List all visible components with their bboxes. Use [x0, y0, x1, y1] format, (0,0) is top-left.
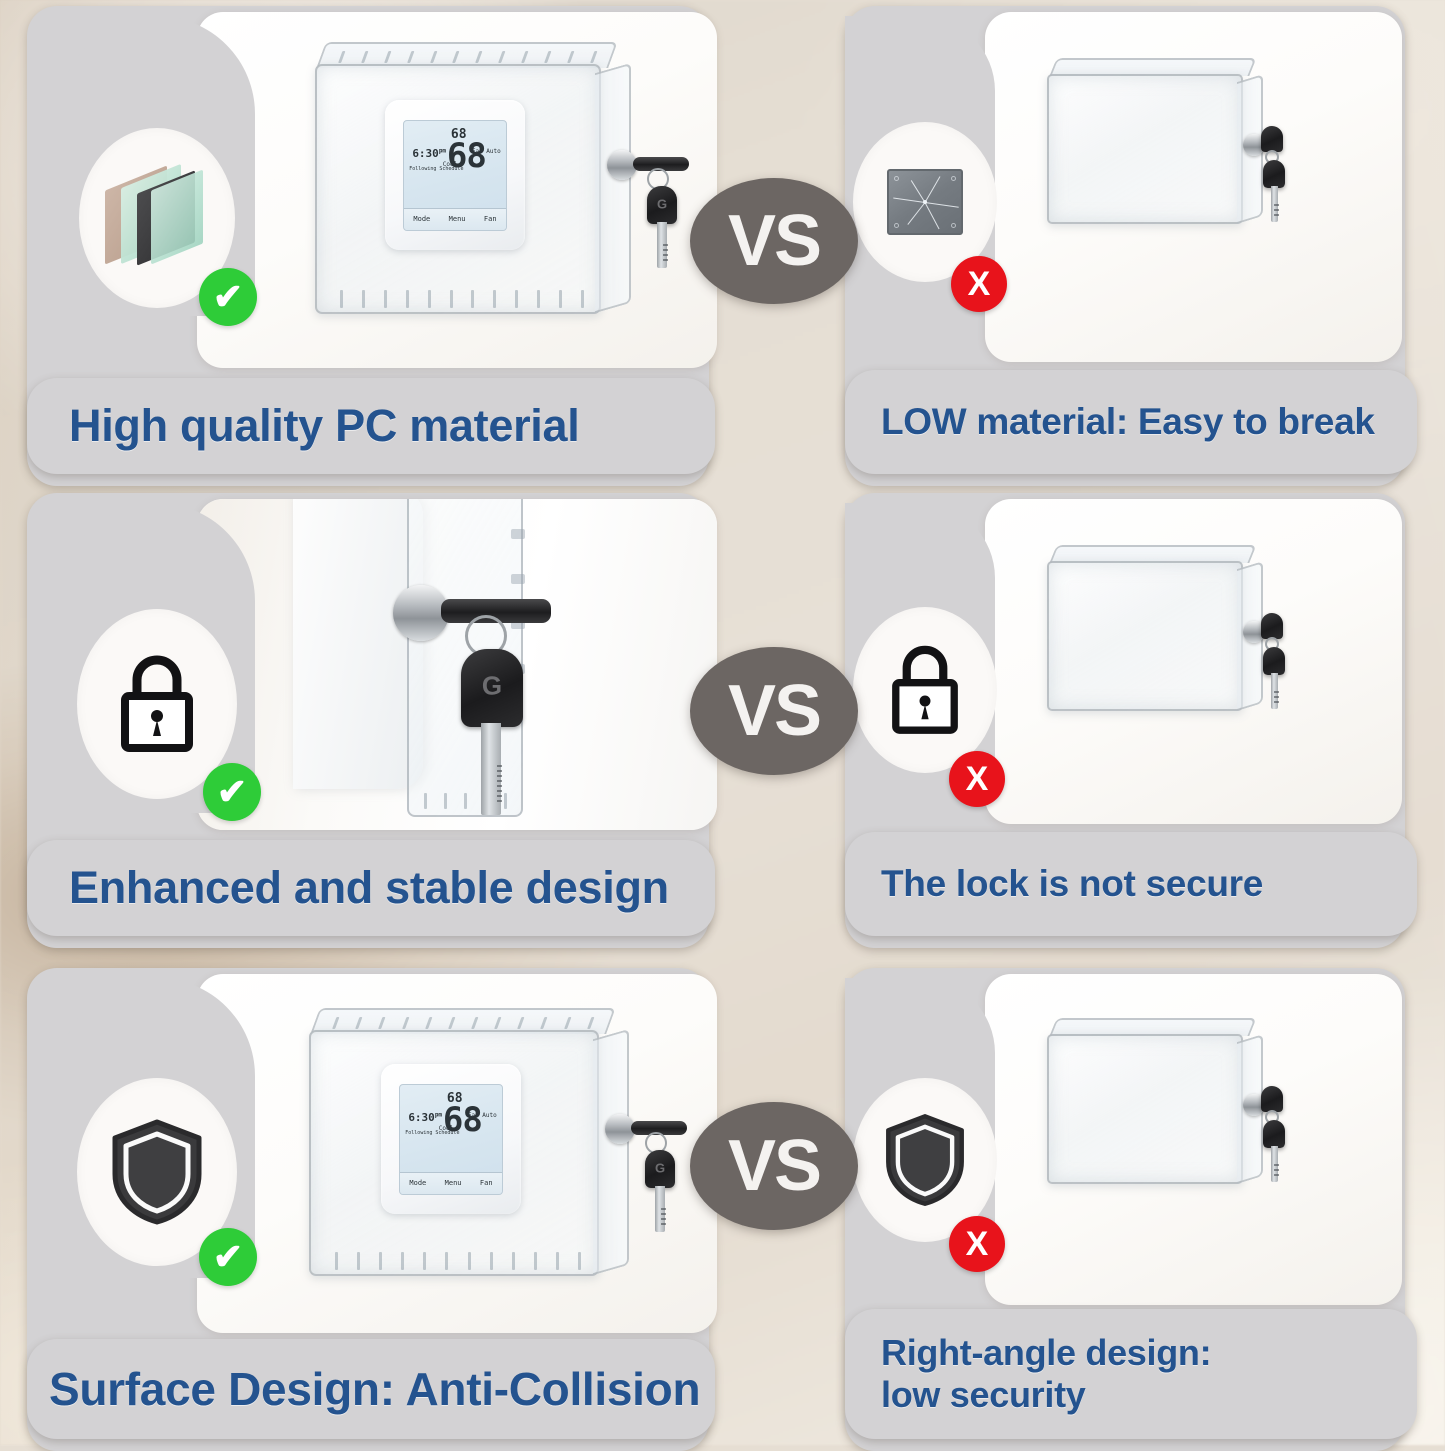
- thermostat-screen: 6:30pm Following Schedule Cool 68 68 Fan…: [399, 1084, 503, 1195]
- cover-front-face: [1047, 1034, 1243, 1184]
- key-brand-logo: G: [482, 671, 502, 702]
- comparison-row-lock: G ✔ Enhanced and stable: [0, 487, 1445, 942]
- key-blade: [657, 222, 667, 268]
- product-photo-stage-closeup: G: [197, 499, 717, 830]
- thermostat-body-closeup: [293, 499, 423, 789]
- second-key-head: [1263, 1120, 1285, 1148]
- con-caption-material: LOW material: Easy to break: [845, 370, 1417, 474]
- key-blade: [1271, 673, 1278, 709]
- cover-top-ribs: [322, 1017, 604, 1029]
- product-photo-stage: [985, 499, 1402, 824]
- pro-caption-lock: Enhanced and stable design: [27, 840, 715, 936]
- key-brand-logo: G: [655, 1161, 665, 1176]
- screen-fan-label: Fan Auto: [468, 1112, 497, 1119]
- screen-main-area: 6:30pm Following Schedule Cool 68 68 Fan…: [404, 121, 506, 208]
- con-caption-surface: Right-angle design: low security: [845, 1309, 1417, 1439]
- pro-panel-lock: G ✔ Enhanced and stable: [27, 487, 717, 942]
- screen-button-menu: Menu: [445, 1179, 462, 1187]
- key-head: [1261, 1086, 1283, 1112]
- screen-button-menu: Menu: [449, 215, 466, 223]
- cover-top-ribs: [328, 51, 607, 63]
- key-blade: [655, 1186, 665, 1232]
- product-photo-stage: 6:30pm Following Schedule Cool 68 68 Fan…: [197, 12, 717, 368]
- con-caption-line2: low security: [881, 1374, 1085, 1416]
- feature-badge-tab: X: [845, 16, 995, 298]
- screen-button-mode: Mode: [413, 215, 430, 223]
- con-panel-lock: X The lock is not secure: [845, 487, 1420, 942]
- screen-button-fan: Fan: [484, 215, 497, 223]
- con-panel-material: X LOW material: Easy to break: [845, 0, 1420, 480]
- product-photo-stage: [985, 12, 1402, 362]
- second-key-head: [1263, 160, 1285, 188]
- cross-badge: X: [949, 751, 1005, 807]
- cracked-panel-icon: [887, 169, 963, 235]
- screen-main-area: 6:30pm Following Schedule Cool 68 68 Fan…: [400, 1085, 502, 1172]
- screen-button-fan: Fan: [480, 1179, 493, 1187]
- thermostat-body: 6:30pm Following Schedule Cool 68 68 Fan…: [381, 1064, 521, 1214]
- cover-side-face: [593, 1029, 629, 1275]
- key-head: [1261, 126, 1283, 152]
- thermostat-lock-box: 6:30pm Following Schedule Cool 68 68 Fan…: [315, 42, 645, 322]
- screen-fan-label: Fan Auto: [472, 148, 501, 155]
- cover-front-face: [1047, 74, 1243, 224]
- thermostat-body: 6:30pm Following Schedule Cool 68 68 Fan…: [385, 100, 525, 250]
- key-head: [1261, 613, 1283, 639]
- layered-material-icon: [103, 170, 211, 266]
- competitor-lock-box: [1047, 58, 1287, 238]
- screen-button-bar: Mode Menu Fan: [404, 208, 506, 230]
- screen-time: 6:30pm: [412, 147, 446, 160]
- thermostat-screen: 6:30pm Following Schedule Cool 68 68 Fan…: [403, 120, 507, 231]
- key-head: G: [461, 649, 523, 727]
- con-panel-surface: X Right-angle design: low security: [845, 962, 1420, 1445]
- screen-setpoint-big: 68: [447, 143, 486, 171]
- key-blade: [1271, 1146, 1278, 1182]
- screen-button-bar: Mode Menu Fan: [400, 1172, 502, 1194]
- feature-badge-tab: ✔: [59, 16, 255, 316]
- check-badge: ✔: [199, 268, 257, 326]
- pro-caption-material: High quality PC material: [27, 378, 715, 474]
- product-photo-stage: 6:30pm Following Schedule Cool 68 68 Fan…: [197, 974, 717, 1333]
- feature-icon-oval: [853, 607, 997, 773]
- feature-badge-tab: X: [845, 978, 995, 1264]
- feature-badge-tab: ✔: [59, 503, 255, 813]
- competitor-lock-box: [1047, 545, 1287, 725]
- pro-panel-material: 6:30pm Following Schedule Cool 68 68 Fan…: [27, 0, 717, 480]
- cover-front-face: [1047, 561, 1243, 711]
- cross-badge: X: [949, 1216, 1005, 1272]
- screen-time: 6:30pm: [408, 1111, 442, 1124]
- screen-button-mode: Mode: [409, 1179, 426, 1187]
- second-key-head: [1263, 647, 1285, 675]
- product-photo-stage: [985, 974, 1402, 1305]
- vs-badge-surface: VS: [690, 1102, 858, 1230]
- key-brand-logo: G: [657, 197, 667, 212]
- comparison-row-material: 6:30pm Following Schedule Cool 68 68 Fan…: [0, 0, 1445, 480]
- comparison-grid: 6:30pm Following Schedule Cool 68 68 Fan…: [0, 0, 1445, 1445]
- key-blade: [481, 723, 501, 815]
- feature-badge-tab: X: [845, 503, 995, 793]
- vs-badge-lock: VS: [690, 647, 858, 775]
- padlock-icon: [883, 642, 967, 738]
- vs-badge-material: VS: [690, 178, 858, 304]
- key-head: G: [645, 1150, 675, 1188]
- cover-side-face: [595, 63, 631, 313]
- feature-badge-tab: ✔: [59, 978, 255, 1278]
- pro-caption-surface: Surface Design: Anti-Collision: [27, 1339, 715, 1439]
- cover-bottom-ribs: [325, 1252, 591, 1270]
- screen-setpoint-big: 68: [443, 1107, 482, 1135]
- competitor-lock-box: [1047, 1018, 1287, 1198]
- cover-bottom-ribs: [331, 290, 593, 308]
- pro-panel-surface: 6:30pm Following Schedule Cool 68 68 Fan…: [27, 962, 717, 1445]
- shield-icon: [109, 1118, 205, 1226]
- comparison-row-surface: 6:30pm Following Schedule Cool 68 68 Fan…: [0, 962, 1445, 1445]
- key-blade: [1271, 186, 1278, 222]
- con-caption-lock: The lock is not secure: [845, 832, 1417, 936]
- cross-badge: X: [951, 256, 1007, 312]
- check-badge: ✔: [199, 1228, 257, 1286]
- key-head: G: [647, 186, 677, 224]
- padlock-icon: [111, 652, 203, 756]
- check-badge: ✔: [203, 763, 261, 821]
- thermostat-lock-box: 6:30pm Following Schedule Cool 68 68 Fan…: [309, 1008, 649, 1288]
- shield-icon: [883, 1112, 967, 1208]
- con-caption-line1: Right-angle design:: [881, 1332, 1211, 1374]
